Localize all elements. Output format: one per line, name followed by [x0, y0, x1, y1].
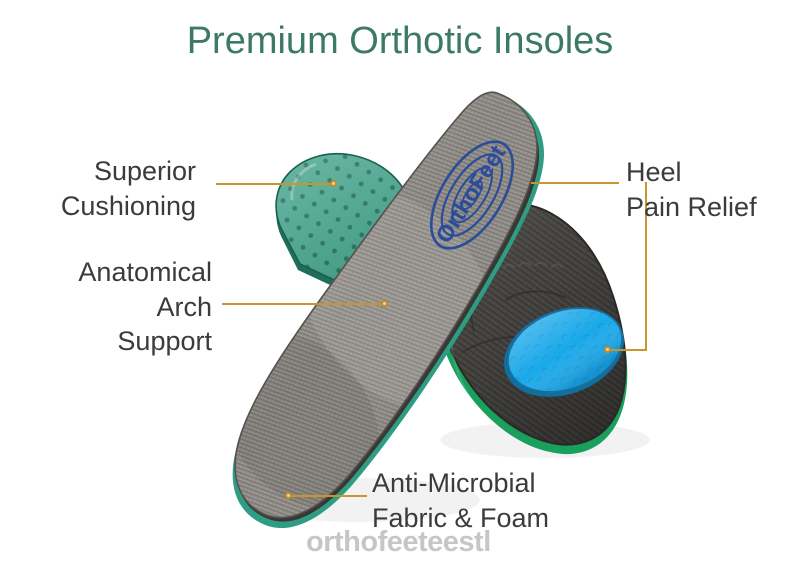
callout-label-heel: Heel Pain Relief — [626, 155, 757, 224]
callout-label-cushioning: Superior Cushioning — [61, 154, 196, 223]
watermark: orthofeeteestl — [306, 526, 491, 559]
callout-label-arch: Anatomical Arch Support — [78, 255, 212, 359]
leader-dot-antimicrobial — [285, 492, 292, 499]
callout-label-antimicrobial: Anti-Microbial Fabric & Foam — [372, 466, 549, 535]
callout-label-arch-line1: Anatomical — [78, 255, 212, 290]
callout-label-cushioning-line1: Superior — [61, 154, 196, 189]
leader-line-cushioning — [216, 183, 336, 185]
callout-label-heel-line1: Heel — [626, 155, 757, 190]
leader-line-heel-inward — [608, 349, 647, 351]
leader-dot-heel — [604, 346, 611, 353]
callout-label-arch-line2: Arch — [78, 290, 212, 325]
leader-dot-arch — [381, 300, 388, 307]
leader-line-arch — [222, 303, 386, 305]
callout-label-arch-line3: Support — [78, 324, 212, 359]
leader-dot-cushioning — [330, 180, 337, 187]
callout-label-antimicrobial-line1: Anti-Microbial — [372, 466, 549, 501]
infographic-canvas: Premium Orthotic Insoles — [0, 0, 800, 565]
leader-line-heel — [531, 182, 619, 184]
callout-label-heel-line2: Pain Relief — [626, 190, 757, 225]
leader-line-antimicrobial — [289, 495, 367, 497]
callout-label-cushioning-line2: Cushioning — [61, 189, 196, 224]
